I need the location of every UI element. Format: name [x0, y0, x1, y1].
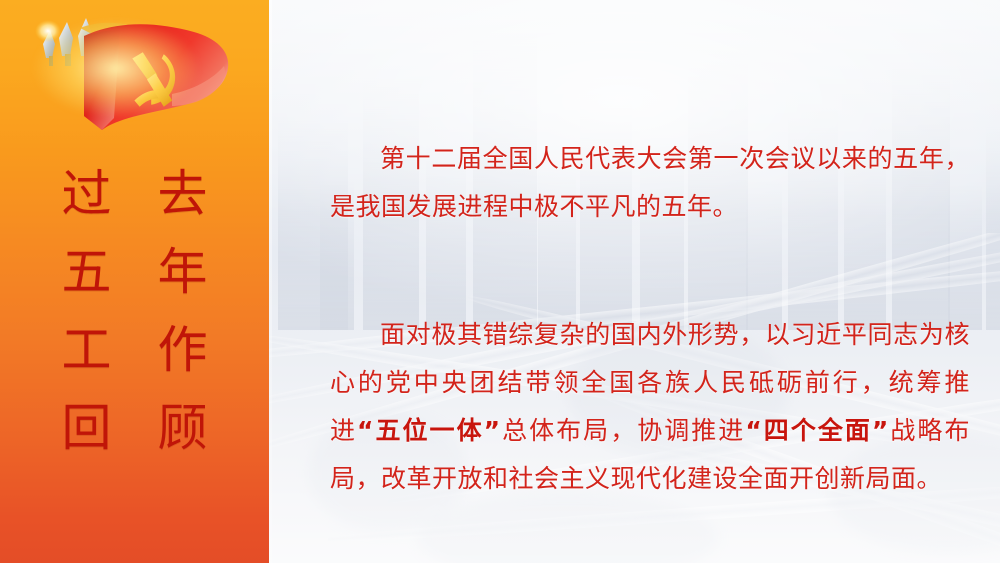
- title-char-gong: 工: [62, 322, 112, 378]
- flag-glow: [28, 8, 238, 134]
- left-title-panel: 过 去 五 年 工 作 回 顾: [0, 0, 269, 563]
- paragraph-2-run-3: 总体布局，协调推进: [501, 416, 746, 445]
- panel-edge-divider: [269, 0, 272, 563]
- title-char-hui: 回: [62, 400, 112, 456]
- title-char-gu: 顾: [158, 400, 208, 456]
- presentation-slide: 过 去 五 年 工 作 回 顾 第十二届全国人民代表大会第一次会议以来的五年，是…: [0, 0, 1000, 563]
- title-char-zuo: 作: [158, 322, 208, 378]
- emphasis-wuweiyiti: “五位一体”: [357, 416, 501, 445]
- paragraph-spacer: [330, 256, 970, 286]
- title-row-2: 五 年: [0, 244, 269, 300]
- title-char-qu: 去: [158, 166, 208, 222]
- title-row-4: 回 顾: [0, 400, 269, 456]
- body-text-block: 第十二届全国人民代表大会第一次会议以来的五年，是我国发展进程中极不平凡的五年。 …: [330, 110, 970, 528]
- paragraph-1-run-1: 第十二届全国人民代表大会第一次会议以来的五年，是我国发展进程中极不平凡的五年。: [330, 144, 970, 221]
- emphasis-sigequanmian: “四个全面”: [745, 416, 889, 445]
- title-char-guo: 过: [62, 166, 112, 222]
- paragraph-2: 面对极其错综复杂的国内外形势，以习近平同志为核心的党中央团结带领全国各族人民砥砺…: [330, 311, 970, 503]
- title-char-nian: 年: [158, 244, 208, 300]
- title-row-3: 工 作: [0, 322, 269, 378]
- paragraph-1: 第十二届全国人民代表大会第一次会议以来的五年，是我国发展进程中极不平凡的五年。: [330, 135, 970, 231]
- vertical-title: 过 去 五 年 工 作 回 顾: [0, 166, 269, 456]
- title-char-wu: 五: [62, 244, 112, 300]
- title-row-1: 过 去: [0, 166, 269, 222]
- cpc-party-flag-emblem: [22, 6, 242, 136]
